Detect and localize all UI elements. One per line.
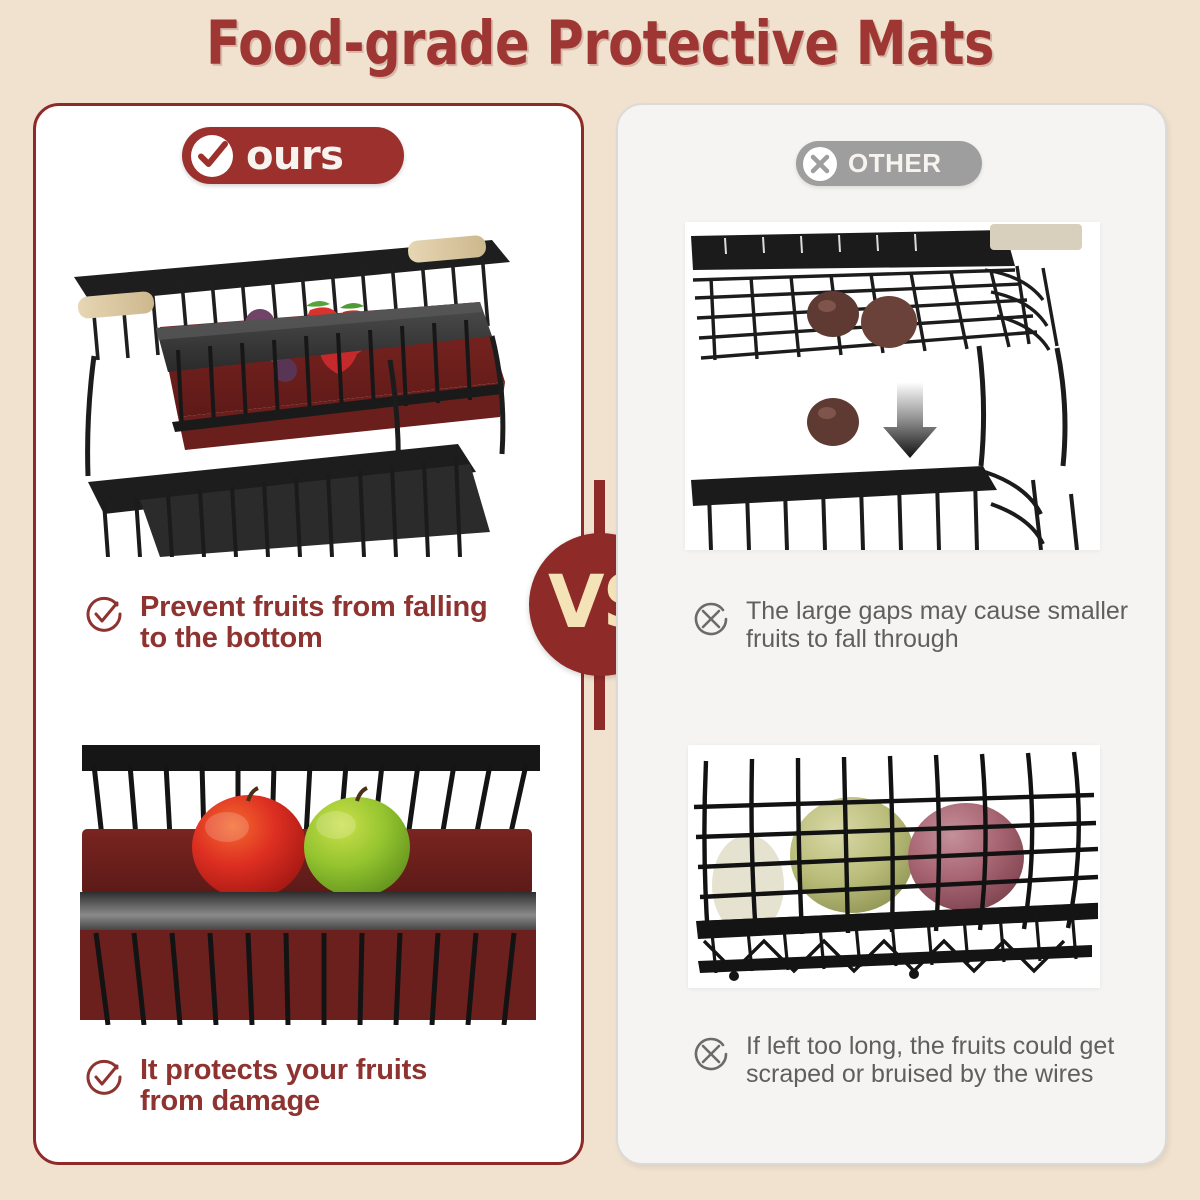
x-circle-icon [803, 147, 837, 181]
photo-other-bottom-bruised [688, 745, 1100, 988]
check-circle-icon [191, 135, 233, 177]
x-circle-outline-icon [692, 600, 730, 643]
caption-ours-top: Prevent fruits from falling to the botto… [84, 592, 554, 655]
caption-other-top-text: The large gaps may cause smaller fruits … [746, 598, 1128, 653]
caption-ours-bottom: It protects your fruits from damage [84, 1055, 554, 1118]
check-circle-outline-icon [84, 594, 124, 639]
x-circle-outline-icon [692, 1035, 730, 1078]
caption-ours-top-text: Prevent fruits from falling to the botto… [140, 592, 488, 655]
caption-other-bottom: If left too long, the fruits could get s… [692, 1033, 1142, 1088]
badge-ours-label: ours [246, 133, 344, 179]
caption-other-top: The large gaps may cause smaller fruits … [692, 598, 1142, 653]
photo-ours-top-basket [60, 232, 580, 557]
badge-other: OTHER [796, 141, 982, 186]
caption-other-bottom-text: If left too long, the fruits could get s… [746, 1033, 1114, 1088]
check-circle-outline-icon [84, 1057, 124, 1102]
badge-other-label: OTHER [848, 148, 942, 179]
photo-other-top-gaps [685, 222, 1100, 550]
badge-ours: ours [182, 127, 404, 184]
photo-ours-bottom-apples [72, 737, 580, 1025]
page-title: Food-grade Protective Mats [42, 8, 1158, 79]
caption-ours-bottom-text: It protects your fruits from damage [140, 1055, 427, 1118]
